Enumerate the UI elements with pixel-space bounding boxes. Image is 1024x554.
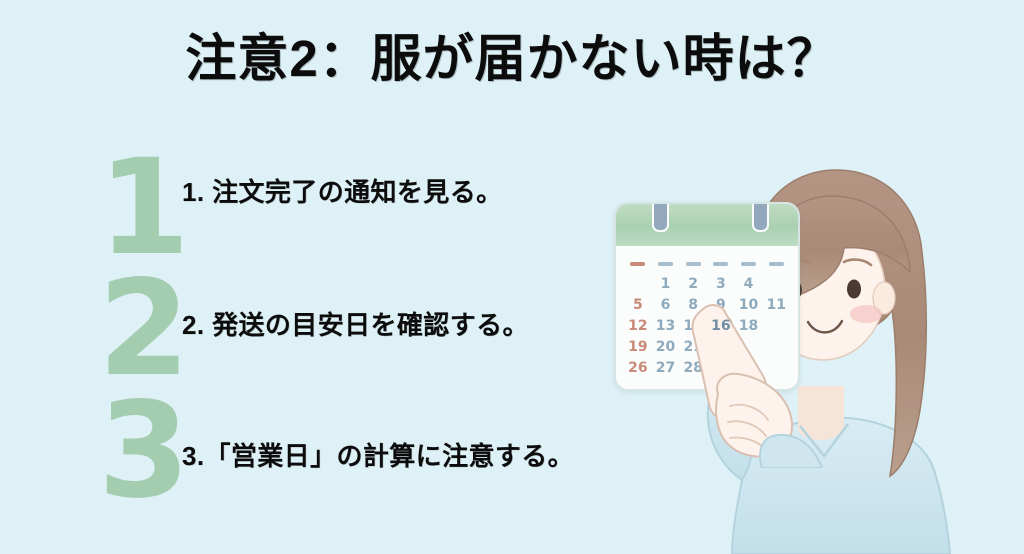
weekday-dash-fri <box>762 262 790 266</box>
calendar-day: 1 <box>652 274 680 295</box>
step-item-2: 2. 発送の目安日を確認する。 <box>182 305 529 342</box>
weekday-dash-wed <box>707 262 735 266</box>
calendar-day: 12 <box>624 316 652 337</box>
pointing-hand-illustration <box>684 298 834 468</box>
weekday-dash-tue <box>679 262 707 266</box>
calendar-day: 2 <box>679 274 707 295</box>
calendar-day: 20 <box>652 337 680 358</box>
calendar-day: 26 <box>624 358 652 379</box>
page-title: 注意2：服が届かない時は？ <box>0 30 1024 89</box>
illustration-woman-with-calendar: 1 2 3 4 5 6 8 9 10 11 12 <box>592 150 1024 554</box>
calendar-day-highlighted: 16 <box>707 316 735 337</box>
calendar-day: 4 <box>735 274 763 295</box>
calendar-week-row: 1 2 3 4 <box>624 274 790 295</box>
calendar-day: 27 <box>652 358 680 379</box>
step-item-3: 3.「営業日」の計算に注意する。 <box>182 436 574 473</box>
calendar-header-band <box>616 204 798 246</box>
calendar-day-label: 16 <box>711 318 730 334</box>
weekday-dash-thu <box>735 262 763 266</box>
calendar-binder-ring-left <box>652 202 669 232</box>
slide-canvas: 注意2：服が届かない時は？ 1 2 3 1. 注文完了の通知を見る。 2. 発送… <box>0 0 1024 554</box>
decor-number-3: 3 <box>98 385 190 517</box>
calendar-day: 5 <box>624 295 652 316</box>
calendar-weekday-row <box>624 253 790 274</box>
calendar-day: 6 <box>652 295 680 316</box>
weekday-dash-mon <box>652 262 680 266</box>
calendar-day: 13 <box>652 316 680 337</box>
step-item-1: 1. 注文完了の通知を見る。 <box>182 172 503 209</box>
calendar-day: 3 <box>707 274 735 295</box>
calendar-binder-ring-right <box>752 202 769 232</box>
calendar-day: 19 <box>624 337 652 358</box>
weekday-dash-sun <box>624 262 652 266</box>
